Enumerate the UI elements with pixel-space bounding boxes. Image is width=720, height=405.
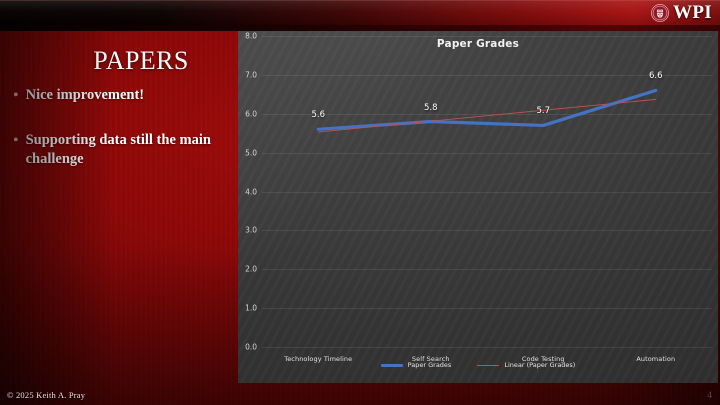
chart-panel[interactable]: Paper Grades 0.01.02.03.04.05.06.07.08.0…	[238, 28, 718, 383]
bullet-marker-icon: •	[10, 131, 19, 150]
chart-y-tick-label: 8.0	[245, 32, 257, 41]
chart-series-line	[318, 99, 656, 132]
chart-data-label: 6.6	[649, 71, 663, 81]
chart-data-label: 5.7	[536, 106, 550, 116]
bullet-text: Nice improvement!	[26, 86, 145, 105]
title-bar-underline	[0, 25, 720, 31]
bullet-list: • Nice improvement! • Supporting data st…	[10, 86, 232, 195]
page-number: 4	[707, 391, 712, 401]
legend-item-trendline[interactable]: Linear (Paper Grades)	[477, 361, 575, 369]
wpi-logo: WPI	[651, 1, 712, 24]
section-title: PAPERS	[56, 46, 226, 76]
legend-label: Paper Grades	[408, 361, 452, 369]
slide-title-bar	[0, 0, 720, 25]
chart-data-label: 5.8	[424, 103, 438, 113]
chart-plot-area: 0.01.02.03.04.05.06.07.08.0 Technology T…	[262, 36, 712, 347]
chart-y-tick-label: 1.0	[245, 304, 257, 313]
chart-series-lines	[262, 36, 712, 347]
chart-y-tick-label: 2.0	[245, 265, 257, 274]
bullet-marker-icon: •	[10, 86, 19, 105]
list-item: • Nice improvement!	[10, 86, 232, 105]
chart-y-tick-label: 7.0	[245, 70, 257, 79]
legend-item-series[interactable]: Paper Grades	[381, 361, 452, 369]
legend-swatch-icon	[477, 365, 499, 366]
wpi-seal-icon	[651, 4, 669, 22]
chart-series-line	[318, 90, 656, 129]
list-item: • Supporting data still the main challen…	[10, 131, 232, 169]
chart-y-tick-label: 3.0	[245, 226, 257, 235]
slide: CS 3043 Social Implications Of Computing…	[0, 0, 720, 405]
bullet-text: Supporting data still the main challenge	[26, 131, 232, 169]
chart-y-tick-label: 5.0	[245, 148, 257, 157]
wpi-wordmark: WPI	[673, 3, 712, 22]
legend-label: Linear (Paper Grades)	[504, 361, 575, 369]
legend-swatch-icon	[381, 364, 403, 367]
chart-y-tick-label: 4.0	[245, 187, 257, 196]
title-bar-sheen	[0, 0, 720, 25]
chart-gridline	[262, 347, 712, 348]
copyright-notice: © 2025 Keith A. Pray	[7, 390, 85, 400]
chart-y-tick-label: 6.0	[245, 109, 257, 118]
chart-y-tick-label: 0.0	[245, 343, 257, 352]
chart-legend: Paper Grades Linear (Paper Grades)	[238, 361, 718, 369]
chart-data-label: 5.6	[311, 110, 325, 120]
